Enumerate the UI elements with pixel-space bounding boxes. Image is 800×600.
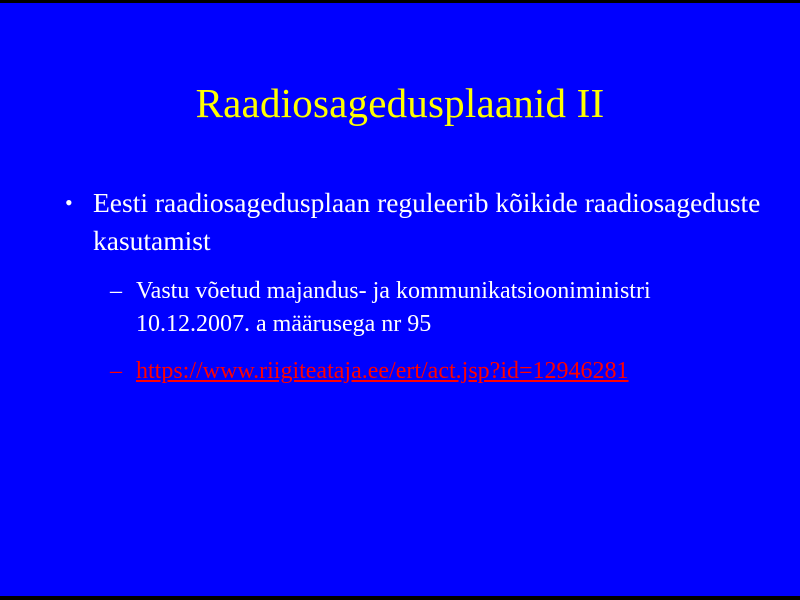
bullet-dot-icon: • <box>65 184 73 222</box>
sub-bullet-item-link: – https://www.riigiteataja.ee/ert/act.js… <box>110 355 736 388</box>
presentation-slide: Raadiosagedusplaanid II • Eesti raadiosa… <box>0 3 800 596</box>
slide-body: • Eesti raadiosagedusplaan reguleerib kõ… <box>58 184 748 388</box>
bullet-dash-icon: – <box>110 355 122 388</box>
bullet-item-level1: • Eesti raadiosagedusplaan reguleerib kõ… <box>58 184 773 260</box>
sub-bullet-list: – Vastu võetud majandus- ja kommunikatsi… <box>58 275 748 388</box>
sub-bullet-regulation-text: Vastu võetud majandus- ja kommunikatsioo… <box>136 278 651 337</box>
bullet-dash-icon: – <box>110 275 122 308</box>
slide-title: Raadiosagedusplaanid II <box>0 79 800 127</box>
bullet-level1-text: Eesti raadiosagedusplaan reguleerib kõik… <box>93 187 760 256</box>
riigiteataja-link[interactable]: https://www.riigiteataja.ee/ert/act.jsp?… <box>136 358 629 384</box>
sub-bullet-item-regulation: – Vastu võetud majandus- ja kommunikatsi… <box>110 275 736 341</box>
